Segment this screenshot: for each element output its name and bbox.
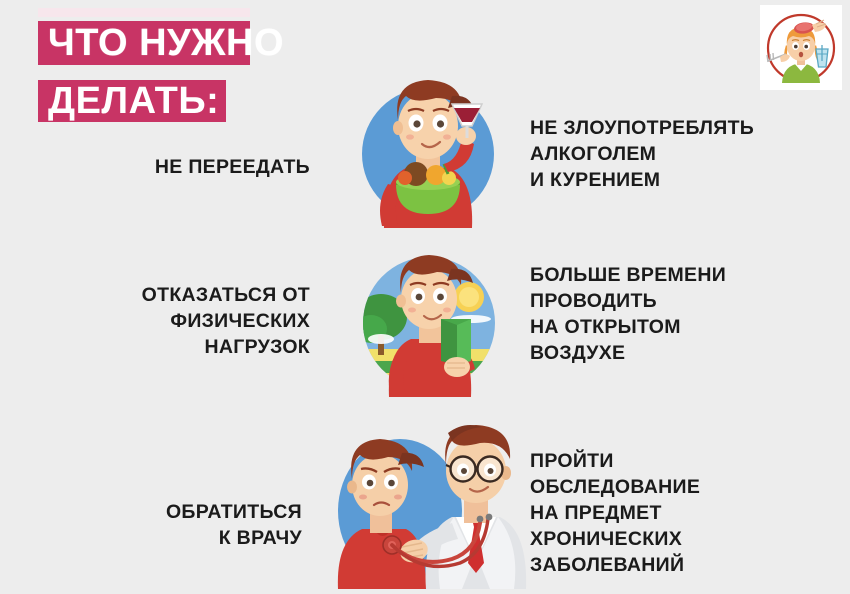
- man-with-food-bowl-and-wine-glass-icon: [348, 68, 508, 228]
- row-1-illustration: [348, 68, 508, 228]
- title-top-strip: [38, 8, 250, 17]
- row-2-right-label: БОЛЬШЕ ВРЕМЕНИ ПРОВОДИТЬ НА ОТКРЫТОМ ВОЗ…: [530, 262, 726, 366]
- title-line-1-text: ЧТО НУЖНО: [48, 24, 284, 62]
- row-2-left-label: ОТКАЗАТЬСЯ ОТ ФИЗИЧЕСКИХ НАГРУЗОК: [142, 282, 310, 360]
- row-1-left-label: НЕ ПЕРЕЕДАТЬ: [155, 154, 310, 180]
- row-2-illustration: [345, 245, 513, 397]
- row-outdoor-time: ОТКАЗАТЬСЯ ОТ ФИЗИЧЕСКИХ НАГРУЗОК: [0, 240, 850, 400]
- infographic-poster: ЧТО НУЖНО ДЕЛАТЬ:: [0, 0, 850, 589]
- row-1-right-label: НЕ ЗЛОУПОТРЕБЛЯТЬ АЛКОГОЛЕМ И КУРЕНИЕМ: [530, 115, 754, 193]
- row-medical-checkup: ОБРАТИТЬСЯ К ВРАЧУ: [0, 415, 850, 589]
- doctor-examining-patient-icon: [322, 419, 530, 589]
- row-3-illustration: [322, 419, 530, 589]
- row-do-not-overeat: НЕ ПЕРЕЕДАТЬ: [0, 60, 850, 235]
- title-line-1: ЧТО НУЖНО: [38, 21, 250, 65]
- row-3-right-label: ПРОЙТИ ОБСЛЕДОВАНИЕ НА ПРЕДМЕТ ХРОНИЧЕСК…: [530, 448, 700, 578]
- row-3-left-label: ОБРАТИТЬСЯ К ВРАЧУ: [166, 499, 302, 551]
- man-outdoors-with-green-book-icon: [345, 245, 513, 397]
